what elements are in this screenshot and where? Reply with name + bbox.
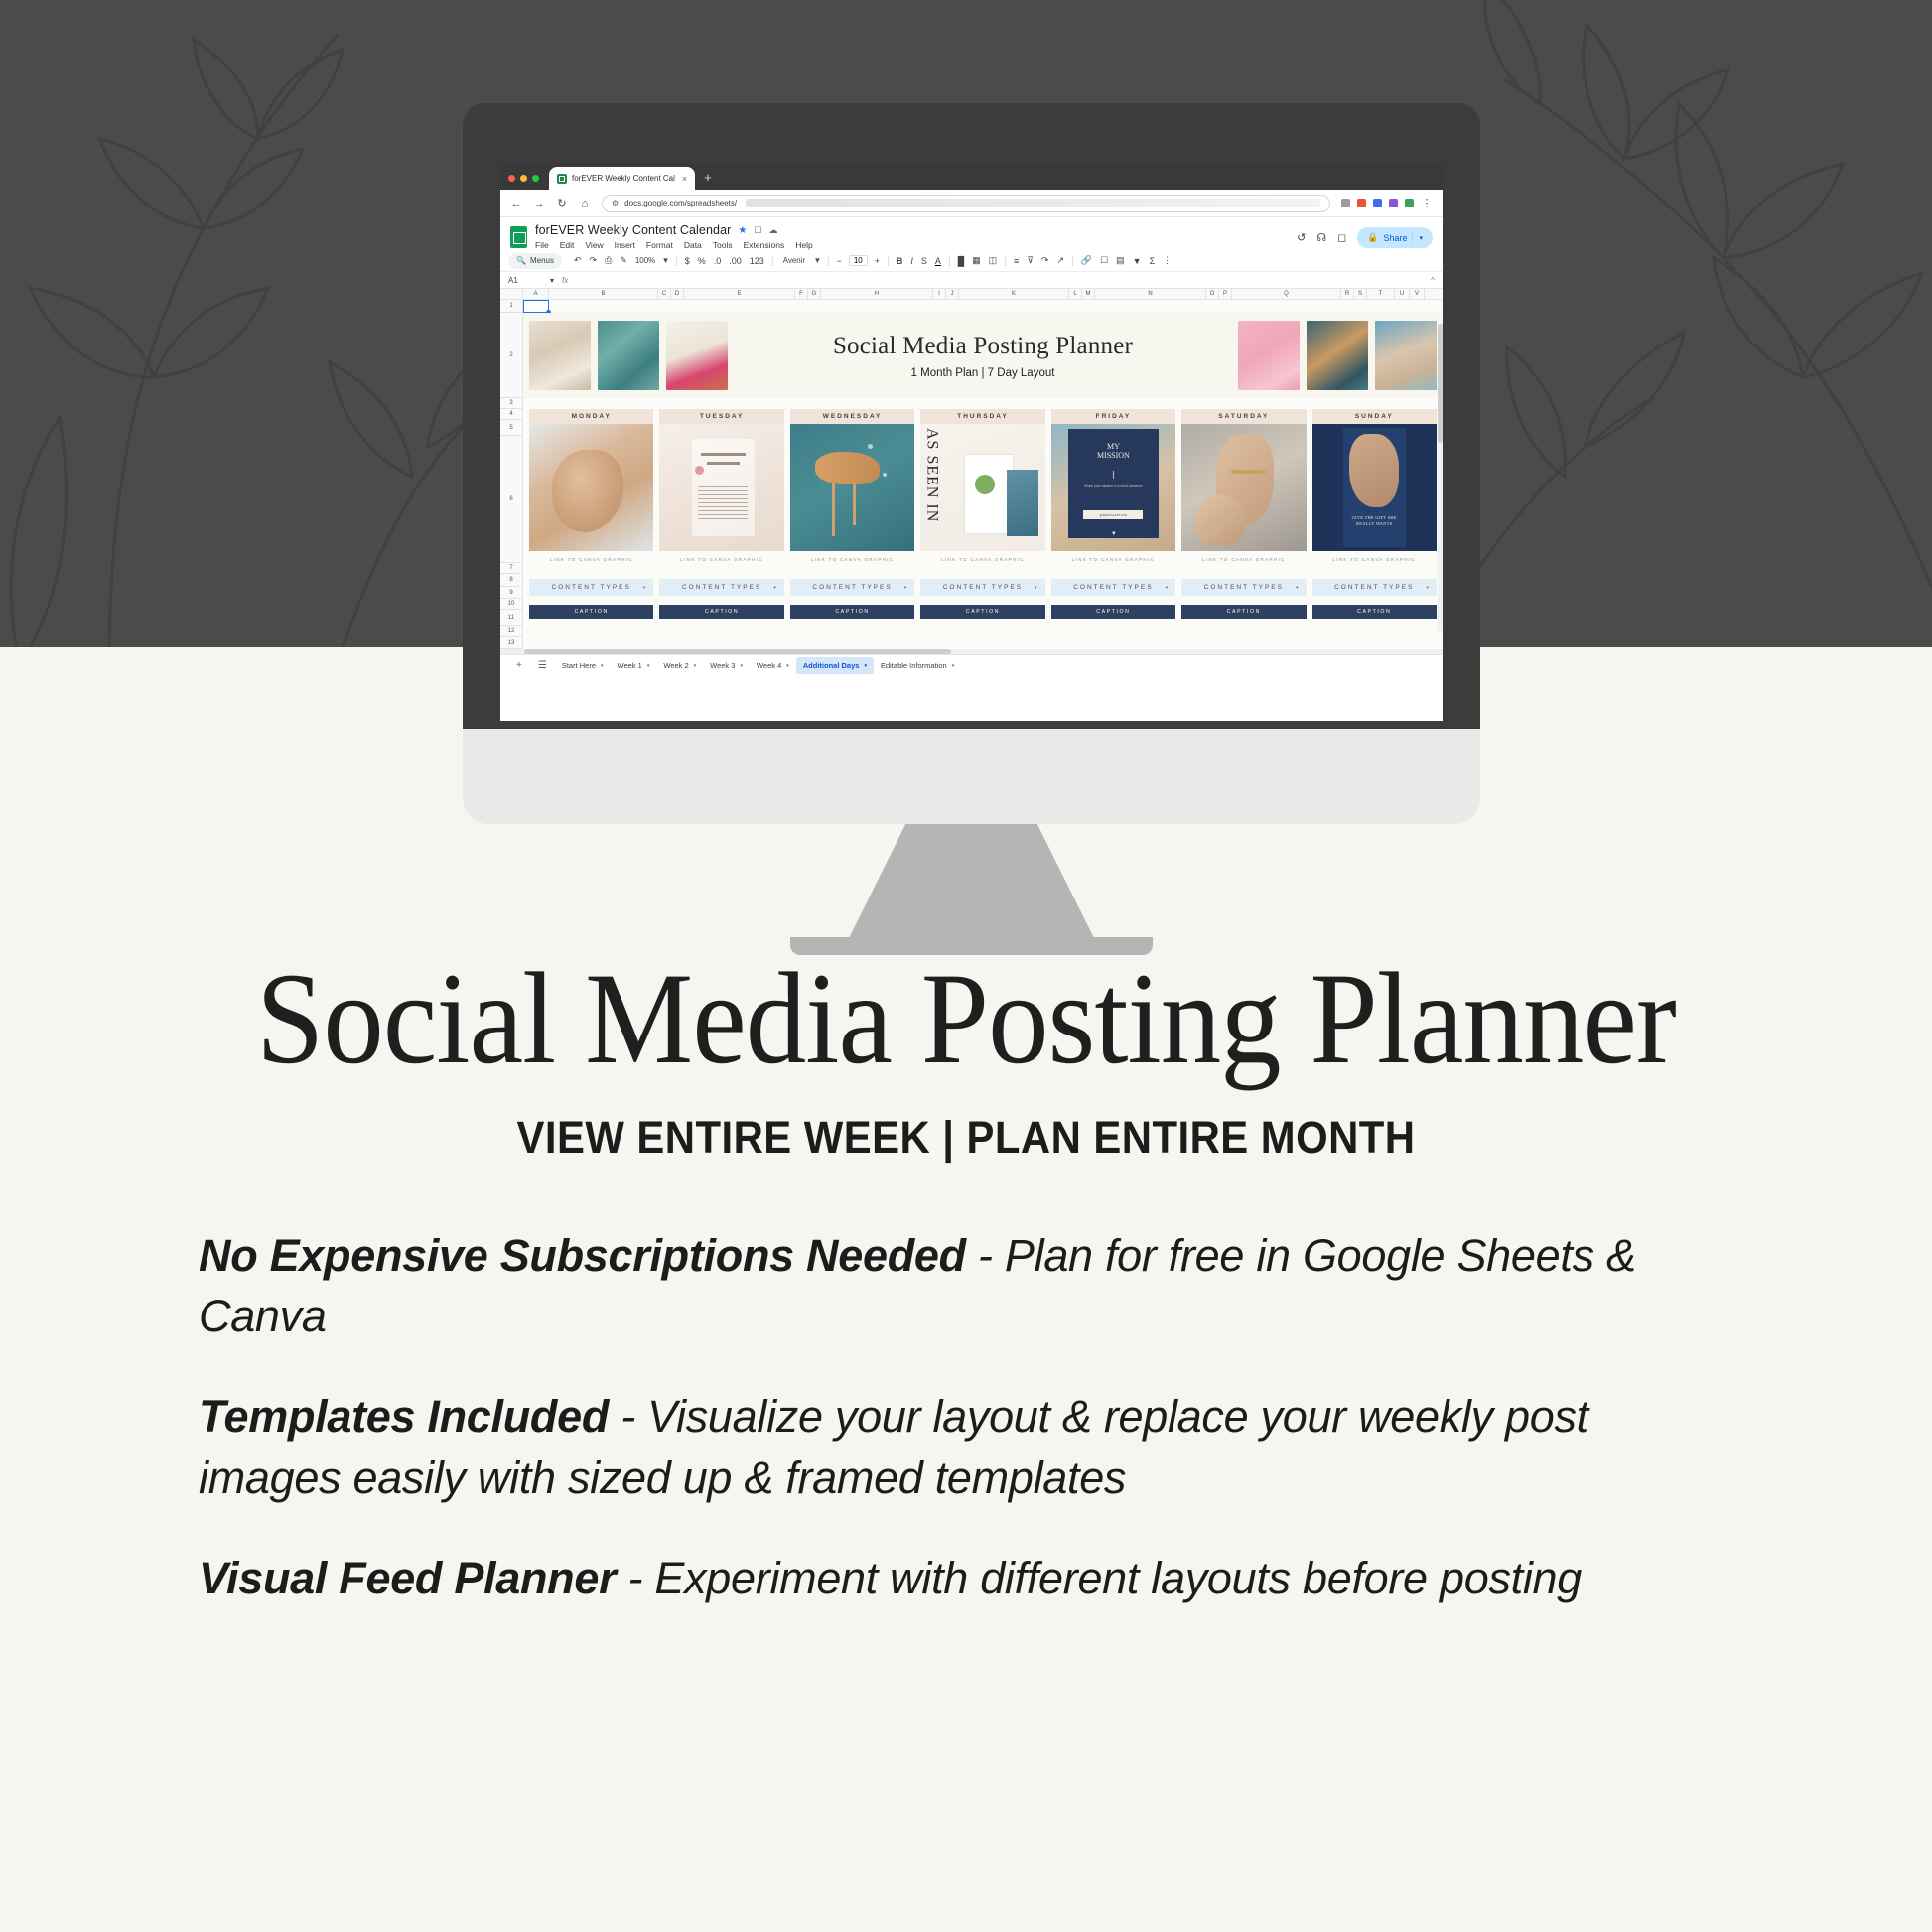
- content-types-label: CONTENT TYPES: [1073, 584, 1153, 591]
- sheet-tab-label: Additional Days: [803, 661, 860, 670]
- column-headers: ABCDEFGHIJKLMNOPQRSTUV: [500, 289, 1443, 300]
- content-types-label: CONTENT TYPES: [682, 584, 761, 591]
- content-types-label: CONTENT TYPES: [943, 584, 1023, 591]
- meet-icon[interactable]: ◻: [1337, 231, 1346, 244]
- day-image-hand-holding-necklace[interactable]: [529, 424, 653, 551]
- address-redacted-path: [746, 199, 1320, 207]
- day-label-sunday: SUNDAY: [1312, 409, 1437, 424]
- day-image-stacking-tip-card[interactable]: [659, 424, 783, 551]
- column-header-v[interactable]: V: [1410, 289, 1425, 299]
- chevron-down-icon[interactable]: ▾: [1412, 234, 1423, 242]
- currency-format-icon[interactable]: $: [681, 256, 694, 266]
- content-types-dropdown-tuesday[interactable]: CONTENT TYPES ▾: [659, 579, 783, 596]
- sunday-card-text: GIVE THE GIFT SHE REALLY WANTS: [1344, 515, 1404, 527]
- sheet-tab-editable-information[interactable]: Editable Information▾: [874, 657, 961, 674]
- day-column-tuesday: TUESDAY LINK TO CANVA GRAPHIC: [659, 409, 783, 619]
- print-icon[interactable]: ⎙: [601, 255, 616, 266]
- toolbar-divider: |: [884, 255, 893, 267]
- chevron-down-icon[interactable]: ▾: [694, 663, 697, 669]
- forward-icon[interactable]: →: [533, 198, 545, 209]
- my-mission-title: MYMISSION: [1051, 442, 1175, 460]
- column-header-j[interactable]: J: [946, 289, 959, 299]
- close-window-dot[interactable]: [508, 175, 515, 182]
- address-input[interactable]: ⚙ docs.google.com/spreadsheets/: [602, 195, 1330, 212]
- day-label-thursday: THURSDAY: [920, 409, 1044, 424]
- maximize-window-dot[interactable]: [532, 175, 539, 182]
- leaf-line-art-left: [0, 0, 516, 647]
- row-header-7[interactable]: 7: [500, 563, 522, 574]
- feature-bullet-title: No Expensive Subscriptions Needed: [199, 1230, 966, 1281]
- imac-mockup: forEVER Weekly Content Cal × + ← → ↻ ⌂ ⚙…: [463, 103, 1480, 735]
- day-label-monday: MONDAY: [529, 409, 653, 424]
- extension-red-icon[interactable]: [1357, 199, 1366, 207]
- document-title[interactable]: forEVER Weekly Content Calendar: [535, 223, 731, 237]
- browser-tab-title: forEVER Weekly Content Cal: [572, 174, 675, 183]
- day-label-tuesday: TUESDAY: [659, 409, 783, 424]
- chevron-down-icon[interactable]: ▾: [647, 663, 650, 669]
- row-header-10[interactable]: 10: [500, 599, 522, 610]
- star-icon[interactable]: ★: [738, 225, 747, 236]
- row-header-13[interactable]: 13: [500, 637, 522, 649]
- content-types-dropdown-friday[interactable]: CONTENT TYPES ▾: [1051, 579, 1175, 596]
- menu-data[interactable]: Data: [684, 240, 702, 250]
- horizontal-align-icon[interactable]: ≡: [1010, 256, 1023, 266]
- grid-spacer: [529, 596, 653, 605]
- extensions-icon[interactable]: [1341, 199, 1350, 207]
- redo-icon[interactable]: ↷: [586, 255, 602, 266]
- feature-bullet-3: Visual Feed Planner - Experiment with di…: [199, 1548, 1733, 1608]
- column-header-q[interactable]: Q: [1232, 289, 1341, 299]
- insert-link-icon[interactable]: 🔗: [1077, 255, 1096, 266]
- day-column-sunday: SUNDAY GIVE THE GIFT SHE REALLY WANTS LI…: [1312, 409, 1437, 619]
- banner-row: Social Media Posting Planner 1 Month Pla…: [523, 313, 1443, 398]
- version-history-icon[interactable]: ↺: [1297, 231, 1306, 244]
- sheets-header-actions: ↺ ☊ ◻ 🔒 Share ▾: [1297, 223, 1433, 248]
- extension-blue-icon[interactable]: [1373, 199, 1382, 207]
- menu-format[interactable]: Format: [646, 240, 673, 250]
- row-header-2[interactable]: 2: [500, 313, 522, 398]
- as-seen-in-vertical-text: AS SEEN IN: [922, 428, 940, 522]
- content-types-label: CONTENT TYPES: [812, 584, 892, 591]
- name-box[interactable]: A1: [508, 276, 542, 285]
- sheet-tab-week-1[interactable]: Week 1▾: [611, 657, 657, 674]
- text-color-icon[interactable]: A: [931, 256, 945, 266]
- horizontal-scrollbar[interactable]: [500, 649, 1443, 654]
- monitor-chin: [463, 729, 1480, 824]
- day-link-thursday[interactable]: LINK TO CANVA GRAPHIC: [920, 551, 1044, 566]
- chevron-down-icon[interactable]: ▾: [904, 585, 909, 591]
- column-header-t[interactable]: T: [1367, 289, 1395, 299]
- chevron-down-icon[interactable]: ▾: [643, 585, 648, 591]
- day-columns: MONDAY LINK TO CANVA GRAPHIC CONTENT TYP…: [523, 409, 1443, 619]
- chevron-down-icon[interactable]: ▾: [1426, 585, 1431, 591]
- menu-insert[interactable]: Insert: [615, 240, 635, 250]
- column-header-p[interactable]: P: [1219, 289, 1232, 299]
- feature-bullet-title: Visual Feed Planner: [199, 1553, 616, 1603]
- sheets-favicon: [557, 174, 567, 184]
- day-link-monday[interactable]: LINK TO CANVA GRAPHIC: [529, 551, 653, 566]
- reload-icon[interactable]: ↻: [556, 197, 568, 209]
- caption-cell-sunday[interactable]: CAPTION: [1312, 605, 1437, 619]
- google-sheets-logo-icon: [510, 226, 527, 248]
- feature-list: No Expensive Subscriptions Needed - Plan…: [199, 1225, 1733, 1608]
- vertical-align-icon[interactable]: ⊽: [1023, 255, 1037, 266]
- banner-image-pink-jewelry-flatlay: [1238, 321, 1300, 390]
- grid-spacer: [1051, 566, 1175, 579]
- undo-icon[interactable]: ↶: [570, 255, 586, 266]
- grid-spacer: [1051, 596, 1175, 605]
- browser-tab-strip: forEVER Weekly Content Cal × +: [500, 163, 1443, 190]
- monitor-screen: forEVER Weekly Content Cal × + ← → ↻ ⌂ ⚙…: [500, 163, 1443, 721]
- browser-tab[interactable]: forEVER Weekly Content Cal ×: [549, 167, 695, 190]
- decrease-font-size-button[interactable]: −: [833, 256, 846, 266]
- banner-title: Social Media Posting Planner: [833, 333, 1133, 360]
- share-button-label: Share: [1383, 233, 1407, 243]
- toolbar-divider: |: [672, 255, 681, 267]
- increase-font-size-button[interactable]: +: [871, 256, 884, 266]
- menus-search-button[interactable]: 🔍 Menus: [508, 253, 562, 269]
- more-formats-icon[interactable]: 123: [746, 256, 768, 266]
- day-link-friday[interactable]: LINK TO CANVA GRAPHIC: [1051, 551, 1175, 566]
- chevron-down-icon[interactable]: ▾: [1035, 585, 1039, 591]
- sheets-menu-bar: File Edit View Insert Format Data Tools …: [535, 240, 813, 250]
- content-types-label: CONTENT TYPES: [1334, 584, 1414, 591]
- site-info-icon[interactable]: ⚙: [612, 199, 619, 207]
- vertical-scrollbar[interactable]: [1438, 324, 1443, 631]
- chevron-down-icon[interactable]: ▾: [773, 585, 778, 591]
- font-family-select[interactable]: Avenir: [777, 256, 812, 265]
- toolbar-divider: |: [945, 255, 954, 267]
- banner-image-beach-sand-legs: [1375, 321, 1437, 390]
- column-header-n[interactable]: N: [1095, 289, 1206, 299]
- content-types-label: CONTENT TYPES: [552, 584, 631, 591]
- content-types-label: CONTENT TYPES: [1204, 584, 1284, 591]
- row-header-6[interactable]: 6: [500, 436, 522, 563]
- column-header-c[interactable]: C: [658, 289, 671, 299]
- functions-icon[interactable]: Σ: [1146, 256, 1160, 266]
- chevron-down-icon[interactable]: ▾: [1166, 585, 1171, 591]
- toolbar-divider: |: [768, 255, 777, 267]
- selected-cell-a1[interactable]: [523, 300, 549, 313]
- day-label-wednesday: WEDNESDAY: [790, 409, 914, 424]
- promo-copy-section: Social Media Posting Planner VIEW ENTIRE…: [0, 953, 1932, 1648]
- sheet-tab-week-2[interactable]: Week 2▾: [656, 657, 703, 674]
- font-chevron-down-icon[interactable]: ▾: [811, 255, 824, 266]
- caption-cell-thursday[interactable]: CAPTION: [920, 605, 1044, 619]
- menus-pill-label: Menus: [530, 256, 554, 265]
- increase-decimal-icon[interactable]: .00: [725, 256, 746, 266]
- move-to-folder-icon[interactable]: ☐: [754, 225, 761, 236]
- fx-icon: fx: [562, 276, 568, 285]
- toolbar-divider: |: [824, 255, 833, 267]
- caption-cell-saturday[interactable]: CAPTION: [1181, 605, 1306, 619]
- column-header-d[interactable]: D: [671, 289, 684, 299]
- address-url-text: docs.google.com/spreadsheets/: [624, 199, 737, 207]
- sheet-tab-additional-days[interactable]: Additional Days▾: [796, 657, 874, 674]
- grid-spacer: [920, 566, 1044, 579]
- zoom-chevron-down-icon[interactable]: ▾: [659, 255, 672, 266]
- feature-bullet-title: Templates Included: [199, 1391, 609, 1442]
- chevron-down-icon[interactable]: ▾: [1296, 585, 1301, 591]
- sheets-toolbar: 🔍 Menus ↶ ↷ ⎙ ✎ 100% ▾ | $ % .0 .00 123 …: [500, 250, 1443, 272]
- sheet-tab-label: Week 3: [710, 661, 735, 670]
- search-icon: 🔍: [516, 256, 526, 265]
- name-box-chevron-down-icon[interactable]: ▾: [550, 276, 554, 285]
- my-mission-button: @READCAPTION: [1083, 510, 1143, 519]
- chevron-down-icon[interactable]: ▾: [864, 663, 867, 669]
- day-image-my-mission-navy-card[interactable]: MYMISSION Share your mission in a short …: [1051, 424, 1175, 551]
- toolbar-divider: |: [1068, 255, 1077, 267]
- sheet-tab-label: Editable Information: [881, 661, 947, 670]
- content-types-dropdown-saturday[interactable]: CONTENT TYPES ▾: [1181, 579, 1306, 596]
- content-types-dropdown-thursday[interactable]: CONTENT TYPES ▾: [920, 579, 1044, 596]
- day-image-hands-gold-bracelet[interactable]: [1181, 424, 1306, 551]
- content-types-dropdown-sunday[interactable]: CONTENT TYPES ▾: [1312, 579, 1437, 596]
- strikethrough-button[interactable]: S: [917, 256, 931, 266]
- banner-image-flatlay-beige-jewelry: [529, 321, 591, 390]
- menu-help[interactable]: Help: [795, 240, 812, 250]
- day-link-sunday[interactable]: LINK TO CANVA GRAPHIC: [1312, 551, 1437, 566]
- banner-image-hand-water-gold: [1307, 321, 1368, 390]
- grid-spacer: [920, 596, 1044, 605]
- column-header-h[interactable]: H: [821, 289, 933, 299]
- content-types-dropdown-wednesday[interactable]: CONTENT TYPES ▾: [790, 579, 914, 596]
- all-sheets-icon[interactable]: ☰: [530, 660, 555, 671]
- minimize-window-dot[interactable]: [520, 175, 527, 182]
- menu-edit[interactable]: Edit: [560, 240, 575, 250]
- caption-cell-monday[interactable]: CAPTION: [529, 605, 653, 619]
- window-controls[interactable]: [508, 175, 539, 190]
- day-column-wednesday: WEDNESDAY LINK TO CANVA GRAPHIC: [790, 409, 914, 619]
- filter-icon[interactable]: ▼: [1129, 256, 1146, 266]
- italic-button[interactable]: I: [906, 256, 917, 266]
- merge-cells-icon[interactable]: ◫: [985, 255, 1002, 266]
- column-header-r[interactable]: R: [1341, 289, 1354, 299]
- banner-subtitle: 1 Month Plan | 7 Day Layout: [911, 367, 1055, 379]
- my-mission-sub: Share your mission in a short sentence: [1078, 484, 1148, 489]
- column-header-f[interactable]: F: [795, 289, 808, 299]
- cloud-saved-icon: ☁: [768, 225, 777, 236]
- select-all-corner[interactable]: [500, 289, 523, 299]
- day-column-thursday: THURSDAY AS SEEN IN LINK TO CANVA GRAPHI…: [920, 409, 1044, 619]
- lock-icon: 🔒: [1367, 232, 1378, 243]
- fill-color-icon[interactable]: █: [954, 256, 968, 266]
- column-header-u[interactable]: U: [1395, 289, 1410, 299]
- new-tab-button[interactable]: +: [704, 170, 712, 190]
- column-header-k[interactable]: K: [959, 289, 1069, 299]
- day-link-wednesday[interactable]: LINK TO CANVA GRAPHIC: [790, 551, 914, 566]
- chevron-down-icon[interactable]: ▾: [601, 663, 604, 669]
- chevron-down-icon[interactable]: ▾: [952, 663, 955, 669]
- menu-view[interactable]: View: [585, 240, 603, 250]
- day-label-saturday: SATURDAY: [1181, 409, 1306, 424]
- grid-spacer: [659, 566, 783, 579]
- day-link-tuesday[interactable]: LINK TO CANVA GRAPHIC: [659, 551, 783, 566]
- row-header-11[interactable]: 11: [500, 610, 522, 626]
- browser-menu-icon[interactable]: ⋮: [1421, 197, 1433, 209]
- day-link-saturday[interactable]: LINK TO CANVA GRAPHIC: [1181, 551, 1306, 566]
- banner-image-teal-water-hand: [598, 321, 659, 390]
- collapse-icon[interactable]: ^: [1431, 276, 1435, 285]
- menu-tools[interactable]: Tools: [713, 240, 733, 250]
- sheets-header: forEVER Weekly Content Calendar ★ ☐ ☁ Fi…: [500, 217, 1443, 250]
- close-icon[interactable]: ×: [682, 174, 687, 184]
- caption-cell-tuesday[interactable]: CAPTION: [659, 605, 783, 619]
- day-column-monday: MONDAY LINK TO CANVA GRAPHIC CONTENT TYP…: [529, 409, 653, 619]
- day-image-hand-dripping-water-teal[interactable]: [790, 424, 914, 551]
- bold-button[interactable]: B: [893, 256, 907, 266]
- column-header-a[interactable]: A: [523, 289, 549, 299]
- add-sheet-button[interactable]: +: [508, 660, 530, 671]
- column-header-s[interactable]: S: [1354, 289, 1367, 299]
- chevron-down-icon[interactable]: ▾: [740, 663, 743, 669]
- back-icon[interactable]: ←: [510, 198, 522, 209]
- spreadsheet-grid: ABCDEFGHIJKLMNOPQRSTUV 12345678910111213…: [500, 289, 1443, 654]
- row-header-12[interactable]: 12: [500, 626, 522, 637]
- column-header-e[interactable]: E: [684, 289, 795, 299]
- extension-green-icon[interactable]: [1405, 199, 1414, 207]
- toolbar-divider: |: [1001, 255, 1010, 267]
- grid-spacer: [790, 566, 914, 579]
- content-types-dropdown-monday[interactable]: CONTENT TYPES ▾: [529, 579, 653, 596]
- column-header-g[interactable]: G: [808, 289, 821, 299]
- column-header-m[interactable]: M: [1082, 289, 1095, 299]
- column-header-i[interactable]: I: [933, 289, 946, 299]
- column-header-b[interactable]: B: [549, 289, 658, 299]
- day-image-as-seen-in-press-collage[interactable]: AS SEEN IN: [920, 424, 1044, 551]
- paint-format-icon[interactable]: ✎: [616, 255, 631, 266]
- column-header-l[interactable]: L: [1069, 289, 1082, 299]
- monitor-stand: [845, 824, 1098, 946]
- font-size-input[interactable]: 10: [849, 255, 868, 266]
- sheet-tab-week-3[interactable]: Week 3▾: [703, 657, 750, 674]
- row-header-1[interactable]: 1: [500, 300, 522, 313]
- zoom-level-select[interactable]: 100%: [631, 256, 659, 265]
- grid-cells[interactable]: Social Media Posting Planner 1 Month Pla…: [523, 300, 1443, 648]
- column-header-o[interactable]: O: [1206, 289, 1219, 299]
- menu-file[interactable]: File: [535, 240, 549, 250]
- grid-spacer: [1181, 596, 1306, 605]
- page-title: Social Media Posting Planner: [68, 953, 1864, 1084]
- grid-spacer: [1181, 566, 1306, 579]
- sheet-tab-start-here[interactable]: Start Here▾: [555, 657, 611, 674]
- sheet-tab-label: Start Here: [562, 661, 596, 670]
- day-image-navy-gift-card[interactable]: GIVE THE GIFT SHE REALLY WANTS: [1312, 424, 1437, 551]
- day-column-saturday: SATURDAY LINK TO CANVA GRAPHIC CONTENT T…: [1181, 409, 1306, 619]
- banner-text-block: Social Media Posting Planner 1 Month Pla…: [735, 333, 1231, 379]
- row-header-8[interactable]: 8: [500, 574, 522, 587]
- sheet-tab-label: Week 1: [618, 661, 642, 670]
- feature-bullet-1: No Expensive Subscriptions Needed - Plan…: [199, 1225, 1733, 1346]
- feature-bullet-description: - Experiment with different layouts befo…: [616, 1553, 1582, 1603]
- menu-extensions[interactable]: Extensions: [744, 240, 785, 250]
- home-icon[interactable]: ⌂: [579, 198, 591, 209]
- row-header-4[interactable]: 4: [500, 409, 522, 420]
- comment-icon[interactable]: ☊: [1316, 231, 1326, 244]
- caption-cell-friday[interactable]: CAPTION: [1051, 605, 1175, 619]
- page-subtitle: VIEW ENTIRE WEEK | PLAN ENTIRE MONTH: [68, 1112, 1864, 1164]
- grid-spacer: [529, 566, 653, 579]
- sheet-tab-week-4[interactable]: Week 4▾: [750, 657, 796, 674]
- row-header-9[interactable]: 9: [500, 587, 522, 599]
- extension-purple-icon[interactable]: [1389, 199, 1398, 207]
- row-headers: 12345678910111213: [500, 300, 523, 649]
- caption-cell-wednesday[interactable]: CAPTION: [790, 605, 914, 619]
- grid-spacer: [1312, 566, 1437, 579]
- text-rotation-icon[interactable]: ↗: [1052, 255, 1068, 266]
- grid-spacer: [790, 596, 914, 605]
- share-button[interactable]: 🔒 Share ▾: [1357, 227, 1433, 248]
- browser-extension-icons[interactable]: ⋮: [1341, 197, 1433, 209]
- row-header-3[interactable]: 3: [500, 398, 522, 409]
- insert-chart-icon[interactable]: ▤: [1112, 255, 1129, 266]
- day-label-friday: FRIDAY: [1051, 409, 1175, 424]
- borders-icon[interactable]: ▦: [968, 255, 985, 266]
- browser-url-bar: ← → ↻ ⌂ ⚙ docs.google.com/spreadsheets/ …: [500, 190, 1443, 217]
- banner-image-pink-peony-bag: [666, 321, 728, 390]
- row-header-5[interactable]: 5: [500, 420, 522, 436]
- sheet-tab-label: Week 2: [663, 661, 688, 670]
- day-column-friday: FRIDAY MYMISSION Share your mission in a…: [1051, 409, 1175, 619]
- grid-spacer: [659, 596, 783, 605]
- sheet-tab-bar: + ☰ Start Here▾Week 1▾Week 2▾Week 3▾Week…: [500, 654, 1443, 676]
- insert-comment-icon[interactable]: ☐: [1096, 255, 1112, 266]
- chevron-down-icon[interactable]: ▾: [786, 663, 789, 669]
- grid-spacer: [1312, 596, 1437, 605]
- toolbar-more-icon[interactable]: ⋮: [1159, 255, 1175, 266]
- feature-bullet-2: Templates Included - Visualize your layo…: [199, 1386, 1733, 1507]
- text-wrap-icon[interactable]: ↷: [1037, 255, 1053, 266]
- formula-bar: A1 ▾ fx ^: [500, 272, 1443, 289]
- decrease-decimal-icon[interactable]: .0: [710, 256, 726, 266]
- percent-format-icon[interactable]: %: [694, 256, 710, 266]
- sheet-tab-label: Week 4: [757, 661, 781, 670]
